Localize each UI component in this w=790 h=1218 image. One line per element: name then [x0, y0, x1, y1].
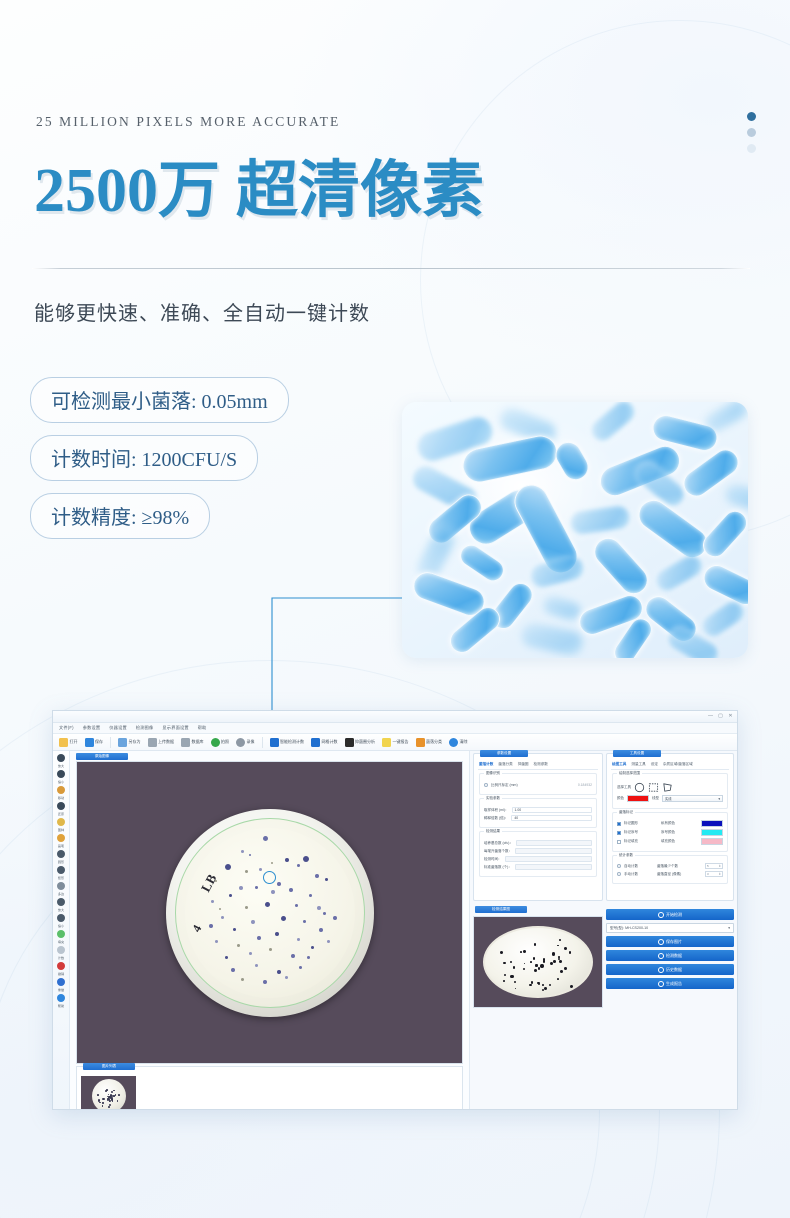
- image-column: 原始图像 LB 4 图片列表: [70, 751, 469, 1110]
- zoom-out-icon: [57, 770, 65, 778]
- params-group-1: 实验参数取样体积 (ml)：1.00稀释倍数 (倍)：40: [479, 798, 597, 828]
- sidebar-tool-label-14: 重做: [58, 987, 64, 992]
- sidebar-tool-2[interactable]: 移动: [53, 786, 69, 800]
- colony-marker: [291, 954, 295, 958]
- sidebar-tool-label-2: 移动: [58, 795, 64, 800]
- colony-marker: [255, 886, 258, 889]
- count-group-legend: 统计参数: [617, 853, 635, 858]
- feature-pill-count-speed: 计数时间: 1200CFU/S: [30, 435, 258, 481]
- grid-icon: [345, 738, 354, 747]
- colony-marker: [303, 920, 307, 924]
- params-group-legend-0: 图像识别: [484, 771, 502, 776]
- colony-marker: [503, 962, 506, 965]
- tools-panel-caption: 工具设置: [613, 750, 661, 757]
- colony-marker: [570, 985, 573, 988]
- colony-marker: [102, 1098, 104, 1100]
- colony-marker: [111, 1091, 113, 1093]
- toolbar-label-0: 打开: [70, 739, 78, 745]
- sidebar-tool-1[interactable]: 缩小: [53, 770, 69, 784]
- colony-marker: [109, 1104, 111, 1106]
- marker-color-label-0: 私有颜色: [661, 821, 698, 826]
- toolbar-label-12: 清除: [460, 739, 468, 745]
- marker-group-legend: 菌落标记: [617, 810, 635, 815]
- sidebar-tool-label-15: 帮助: [58, 1003, 64, 1008]
- action-button-label-3: 历史数据: [666, 967, 682, 973]
- pagination-dot-3[interactable]: [747, 144, 756, 153]
- toolbar-button-0[interactable]: 打开: [57, 737, 80, 748]
- undo-icon: [57, 962, 65, 970]
- colony-marker: [97, 1094, 99, 1096]
- tools-tab-3[interactable]: 杂质区域/菌落区域: [663, 762, 693, 767]
- menu-item-0[interactable]: 文件(F): [59, 725, 74, 731]
- colony-marker: [115, 1094, 117, 1096]
- colony-marker: [225, 864, 231, 870]
- toolbar-button-11[interactable]: 菌落分类: [414, 737, 445, 748]
- marker-label-0: 标记圆形: [624, 821, 658, 826]
- colony-marker: [531, 981, 533, 983]
- colony-marker: [297, 938, 301, 942]
- colony-marker: [229, 894, 233, 898]
- params-panel-caption: 参数设置: [480, 750, 528, 757]
- colony-marker: [538, 967, 541, 970]
- colony-marker: [515, 988, 517, 990]
- brush-icon: [57, 834, 65, 842]
- params-row-2-2: 检测时间：: [484, 856, 592, 862]
- sidebar-tool-9[interactable]: 放大: [53, 898, 69, 912]
- colony-marker: [520, 951, 522, 953]
- colony-marker: [530, 961, 532, 963]
- toolbar-label-7: 智能检测计数: [280, 739, 304, 745]
- params-label-2-1: 每毫升菌落个数：: [484, 849, 512, 854]
- colony-marker: [271, 890, 275, 894]
- menu-item-1[interactable]: 参数设置: [83, 725, 101, 731]
- bacteria-rod: [652, 551, 706, 595]
- polygon-icon: [57, 882, 65, 890]
- params-label-2-0: 培养基总数 (cfu)：: [484, 841, 513, 846]
- toolbar-button-4[interactable]: 数据库: [179, 737, 206, 748]
- pagination-dot-2[interactable]: [747, 128, 756, 137]
- colony-marker: [259, 868, 262, 871]
- toolbar[interactable]: 打开保存另存为上传数据数据库拍照录像智能检测计数网格计数抑菌圈分析一键报告菌落分…: [53, 734, 737, 751]
- marker-checkbox-2[interactable]: [617, 840, 621, 844]
- circle-shape-icon[interactable]: [634, 782, 645, 793]
- colony-marker: [106, 1089, 108, 1091]
- colony-marker: [523, 950, 526, 953]
- sidebar-tool-8[interactable]: 多边: [53, 882, 69, 896]
- colony-marker: [500, 951, 504, 955]
- colony-marker: [233, 928, 237, 932]
- colony-marker: [317, 906, 321, 910]
- upload-icon: [148, 738, 157, 747]
- toolbar-label-2: 另存为: [129, 739, 141, 745]
- colony-marker: [277, 882, 281, 886]
- window-titlebar: — ▢ ✕: [53, 711, 737, 723]
- sidebar-tool-label-6: 圆形: [58, 859, 64, 864]
- image-panel-caption: 原始图像: [76, 753, 128, 760]
- tools-tab-1[interactable]: 测量工具: [631, 762, 645, 767]
- pagination-dot-active[interactable]: [747, 112, 756, 121]
- help-icon: [57, 994, 65, 1002]
- scale-radio[interactable]: [484, 783, 488, 787]
- sidebar-tool-4[interactable]: 菌种: [53, 818, 69, 832]
- sidebar-tool-label-8: 多边: [58, 891, 64, 896]
- action-button-2[interactable]: 检测数据: [606, 950, 734, 961]
- classify-icon: [416, 738, 425, 747]
- params-tabs[interactable]: 菌落计数菌落分类抑菌圈检测参数: [478, 760, 598, 770]
- eyebrow-text: 25 MILLION PIXELS MORE ACCURATE: [36, 114, 340, 130]
- toolbar-button-3[interactable]: 上传数据: [146, 737, 177, 748]
- pick-icon: [57, 818, 65, 826]
- colony-marker: [265, 902, 270, 907]
- tool-sidebar[interactable]: 放大缩小移动还原菌种画笔圆形矩形多边放大缩小填充计数撤销重做帮助: [53, 751, 70, 1110]
- action-button-4[interactable]: 生成报告: [606, 978, 734, 989]
- marker-row-0: 标记圆形私有颜色: [617, 820, 723, 827]
- sidebar-tool-15[interactable]: 帮助: [53, 994, 69, 1008]
- colony-marker: [263, 980, 267, 984]
- tools-tab-2[interactable]: 设定: [651, 762, 658, 767]
- colony-marker: [529, 984, 531, 986]
- bacteria-rod: [540, 592, 584, 623]
- colony-marker: [319, 928, 323, 932]
- software-window: — ▢ ✕ 文件(F)参数设置仪器设置检测图像显示界面设置帮助 打开保存另存为上…: [52, 710, 738, 1110]
- colony-marker: [510, 961, 512, 963]
- params-tab-0[interactable]: 菌落计数: [479, 762, 493, 767]
- colony-marker: [118, 1094, 120, 1096]
- toolbar-label-5: 拍照: [221, 739, 229, 745]
- colony-marker: [549, 984, 551, 986]
- colony-marker: [108, 1098, 110, 1100]
- database-icon: [181, 738, 190, 747]
- maximize-icon[interactable]: ▢: [718, 714, 723, 719]
- colony-marker: [255, 964, 258, 967]
- colony-marker: [503, 980, 505, 982]
- toolbar-button-10[interactable]: 一键报告: [380, 737, 411, 748]
- sidebar-tool-12[interactable]: 计数: [53, 946, 69, 960]
- sidebar-tool-label-1: 缩小: [58, 779, 64, 784]
- menu-item-3[interactable]: 检测图像: [136, 725, 154, 731]
- toolbar-label-4: 数据库: [192, 739, 204, 745]
- marker-checkbox-0[interactable]: [617, 822, 621, 826]
- sidebar-tool-label-0: 放大: [58, 763, 64, 768]
- colony-marker: [102, 1102, 103, 1103]
- colony-marker: [303, 856, 309, 862]
- toolbar-button-2[interactable]: 另存为: [116, 737, 143, 748]
- colony-marker: [535, 964, 537, 966]
- colony-marker: [564, 947, 567, 950]
- magnify-icon: [57, 898, 65, 906]
- count-label-1: 手动计数: [624, 872, 654, 877]
- params-row-2-0: 培养基总数 (cfu)：: [484, 840, 592, 846]
- action-button-0[interactable]: 开始检测: [606, 909, 734, 920]
- colony-marker: [289, 888, 294, 893]
- linestyle-label: 线型: [652, 796, 659, 801]
- marker-group: 菌落标记 标记圆形私有颜色标记序号序号颜色标记填充填充颜色: [612, 812, 728, 852]
- headline-text: 超清像素: [236, 157, 484, 225]
- chart-icon: [658, 953, 664, 959]
- colony-marker: [285, 858, 289, 862]
- colony-marker: [111, 1098, 113, 1100]
- colony-marker: [538, 983, 540, 985]
- colony-marker: [533, 957, 536, 960]
- params-label-1-0: 取样体积 (ml)：: [484, 808, 509, 813]
- bacteria-rod: [698, 506, 748, 562]
- save-as-icon: [118, 738, 127, 747]
- petri-dish: LB 4: [166, 809, 374, 1017]
- count-label-0: 自动计数: [624, 864, 654, 869]
- sidebar-tool-label-3: 还原: [58, 811, 64, 816]
- selected-colony-marker[interactable]: [263, 871, 276, 884]
- spinner-arrows-icon[interactable]: ⇕: [718, 873, 721, 876]
- toolbar-label-10: 一键报告: [393, 739, 409, 745]
- fill-icon: [57, 930, 65, 938]
- toolbar-button-8[interactable]: 网格计数: [309, 737, 340, 748]
- save-icon: [85, 738, 94, 747]
- marker-color-label-2: 填充颜色: [661, 839, 698, 844]
- device-select[interactable]: 型号(型): MH-CS200-10▾: [606, 923, 734, 933]
- toolbar-button-7[interactable]: 智能检测计数: [268, 737, 307, 748]
- count-spin-label-0: 菌落最少个数: [657, 864, 702, 869]
- header-divider: [32, 268, 750, 269]
- colony-marker: [281, 916, 287, 922]
- colony-marker: [510, 975, 513, 978]
- colony-marker: [271, 862, 274, 865]
- count-spinner-0[interactable]: 5⇕: [705, 863, 723, 869]
- camera-icon: [211, 738, 220, 747]
- params-row-2-3: 标准菌落数 (个)：: [484, 864, 592, 870]
- colony-marker: [559, 939, 561, 941]
- action-button-label-1: 保存图片: [666, 939, 682, 945]
- params-label-2-3: 标准菌落数 (个)：: [484, 865, 512, 870]
- pagination-dots[interactable]: [747, 112, 756, 153]
- rect-shape-icon[interactable]: [648, 782, 659, 793]
- colony-marker: [109, 1100, 110, 1101]
- colony-marker: [315, 874, 319, 878]
- result-preview-panel: 检测结果图: [473, 906, 603, 1110]
- colony-marker: [245, 870, 248, 873]
- folder-icon: [59, 738, 68, 747]
- params-tab-3[interactable]: 检测参数: [534, 762, 548, 767]
- close-icon[interactable]: ✕: [728, 714, 733, 719]
- report-icon: [658, 981, 664, 987]
- sidebar-tool-label-13: 撤销: [58, 971, 64, 976]
- result-image[interactable]: [473, 916, 603, 1008]
- grid-count-icon: [311, 738, 320, 747]
- colony-marker: [251, 920, 255, 924]
- colony-marker: [237, 944, 240, 947]
- params-label-2-2: 检测时间：: [484, 857, 502, 862]
- colony-marker: [299, 966, 302, 969]
- bacteria-rod: [722, 480, 748, 513]
- device-select-value: 型号(型): MH-CS200-10: [610, 926, 648, 931]
- zoom-in-icon: [57, 754, 65, 762]
- sidebar-tool-13[interactable]: 撤销: [53, 962, 69, 976]
- colony-marker: [108, 1106, 110, 1108]
- colony-marker: [534, 943, 537, 946]
- action-button-3[interactable]: 历史数据: [606, 964, 734, 975]
- image-canvas[interactable]: LB 4: [76, 761, 463, 1064]
- tools-tabs[interactable]: 绘图工具测量工具设定杂质区域/菌落区域: [611, 760, 729, 770]
- detect-icon: [270, 738, 279, 747]
- params-input-2-2[interactable]: [505, 856, 593, 862]
- params-group-2: 检测结果培养基总数 (cfu)：每毫升菌落个数：检测时间：标准菌落数 (个)：: [479, 831, 597, 877]
- colony-marker: [108, 1094, 109, 1095]
- colony-marker: [241, 850, 245, 854]
- tools-tab-0[interactable]: 绘图工具: [612, 762, 626, 767]
- minimize-icon[interactable]: —: [708, 714, 713, 719]
- colony-marker: [311, 946, 315, 950]
- sidebar-tool-label-12: 计数: [58, 955, 64, 960]
- colony-marker: [221, 916, 224, 919]
- bacteria-rod: [698, 597, 748, 641]
- toolbar-button-6[interactable]: 录像: [234, 737, 257, 748]
- colony-marker: [285, 976, 288, 979]
- marker-checkbox-1[interactable]: [617, 831, 621, 835]
- reset-icon: [57, 802, 65, 810]
- marker-row-2: 标记填充填充颜色: [617, 838, 723, 845]
- spinner-arrows-icon[interactable]: ⇕: [718, 865, 721, 868]
- params-label-0-0: 比例尺标定 (mm): [491, 783, 518, 788]
- bacteria-rod: [699, 561, 748, 610]
- colony-marker: [553, 960, 556, 963]
- colony-marker: [550, 962, 553, 965]
- sidebar-tool-6[interactable]: 圆形: [53, 850, 69, 864]
- history-icon: [658, 967, 664, 973]
- action-button-label-0: 开始检测: [666, 912, 682, 918]
- colony-marker: [102, 1105, 104, 1107]
- params-row-2-1: 每毫升菌落个数：: [484, 848, 592, 854]
- colony-marker: [504, 974, 506, 976]
- sidebar-tool-0[interactable]: 放大: [53, 754, 69, 768]
- sidebar-tool-14[interactable]: 重做: [53, 978, 69, 992]
- colony-marker: [325, 878, 328, 881]
- colony-marker: [225, 956, 228, 959]
- menu-item-2[interactable]: 仪器设置: [109, 725, 127, 731]
- marker-color-swatch-1[interactable]: [701, 829, 723, 836]
- result-panel-caption: 检测结果图: [475, 906, 527, 913]
- colony-marker: [544, 987, 547, 990]
- sidebar-tool-5[interactable]: 画笔: [53, 834, 69, 848]
- feature-pill-list: 可检测最小菌落: 0.05mm 计数时间: 1200CFU/S 计数精度: ≥9…: [30, 377, 289, 551]
- action-button-1[interactable]: 保存图片: [606, 936, 734, 947]
- params-group-legend-1: 实验参数: [484, 796, 502, 801]
- menu-bar[interactable]: 文件(F)参数设置仪器设置检测图像显示界面设置帮助: [53, 723, 737, 734]
- params-input-2-1[interactable]: [515, 848, 592, 854]
- params-tab-1[interactable]: 菌落分类: [498, 762, 512, 767]
- params-input-1-0[interactable]: 1.00: [512, 807, 593, 813]
- toolbar-button-5[interactable]: 拍照: [209, 737, 232, 748]
- toolbar-button-1[interactable]: 保存: [83, 737, 106, 748]
- polygon-shape-icon[interactable]: [662, 782, 673, 793]
- colony-marker: [275, 932, 280, 937]
- menu-item-4[interactable]: 显示界面设置: [162, 725, 188, 731]
- sidebar-tool-7[interactable]: 矩形: [53, 866, 69, 880]
- params-tab-2[interactable]: 抑菌圈: [518, 762, 529, 767]
- marker-color-swatch-2[interactable]: [701, 838, 723, 845]
- colony-marker: [564, 967, 567, 970]
- toolbar-label-11: 菌落分类: [426, 739, 442, 745]
- colony-marker: [559, 960, 562, 963]
- colony-marker: [557, 945, 559, 947]
- count-spinner-1[interactable]: 3⇕: [705, 871, 723, 877]
- colony-marker: [231, 968, 235, 972]
- linestyle-select[interactable]: 实线 ▾: [662, 795, 723, 802]
- colony-marker: [113, 1090, 114, 1091]
- count-spin-label-1: 菌落直径 (像素): [657, 872, 702, 877]
- params-group-0: 图像识别比例尺标定 (mm)0.184932: [479, 773, 597, 795]
- colony-marker: [257, 936, 261, 940]
- params-input-2-3[interactable]: [515, 864, 592, 870]
- menu-item-5[interactable]: 帮助: [198, 725, 207, 731]
- search-icon: [658, 912, 664, 918]
- color-label: 颜色: [617, 796, 624, 801]
- colony-marker: [295, 904, 299, 908]
- draw-color-swatch[interactable]: [627, 795, 649, 802]
- toolbar-label-6: 录像: [247, 739, 255, 745]
- colony-marker: [215, 940, 219, 944]
- colony-marker: [524, 963, 526, 965]
- toolbar-separator: [262, 737, 263, 748]
- report-icon: [382, 738, 391, 747]
- bacteria-rod: [518, 620, 586, 658]
- sidebar-tool-11[interactable]: 填充: [53, 930, 69, 944]
- sidebar-tool-3[interactable]: 还原: [53, 802, 69, 816]
- colony-marker: [239, 886, 244, 891]
- params-input-1-1[interactable]: 40: [511, 815, 592, 821]
- toolbar-button-12[interactable]: 清除: [447, 737, 470, 748]
- right-panel-column: 参数设置 菌落计数菌落分类抑菌圈检测参数 图像识别比例尺标定 (mm)0.184…: [469, 751, 737, 1110]
- colony-marker: [552, 952, 556, 956]
- shape-tool-label: 选择工具: [617, 785, 631, 790]
- colony-marker: [542, 984, 544, 986]
- action-button-column[interactable]: 开始检测型号(型): MH-CS200-10▾保存图片检测数据历史数据生成报告: [606, 906, 734, 1110]
- thumbnail-strip[interactable]: 图片列表: [76, 1066, 463, 1110]
- colony-marker: [241, 978, 245, 982]
- colony-marker: [263, 836, 268, 841]
- colony-marker: [534, 969, 537, 972]
- colony-marker: [513, 966, 515, 968]
- rect-icon: [57, 866, 65, 874]
- marker-label-1: 标记序号: [624, 830, 658, 835]
- count-radio-0[interactable]: [617, 864, 621, 868]
- count-spinner-value-1: 3: [707, 873, 709, 876]
- params-input-2-0[interactable]: [516, 840, 592, 846]
- colony-marker: [514, 981, 516, 983]
- minify-icon: [57, 914, 65, 922]
- colony-marker: [249, 952, 253, 956]
- colony-marker: [99, 1102, 101, 1104]
- params-group-legend-2: 检测结果: [484, 829, 502, 834]
- colony-marker: [219, 908, 222, 911]
- redo-icon: [57, 978, 65, 986]
- colony-marker: [117, 1100, 118, 1101]
- params-label-1-1: 稀释倍数 (倍)：: [484, 816, 508, 821]
- colony-marker: [542, 989, 544, 991]
- sidebar-tool-10[interactable]: 缩小: [53, 914, 69, 928]
- feature-pill-min-colony: 可检测最小菌落: 0.05mm: [30, 377, 289, 423]
- marker-color-swatch-0[interactable]: [701, 820, 723, 827]
- params-input-0-0[interactable]: 0.184932: [521, 782, 592, 788]
- gear-icon: [658, 939, 664, 945]
- colony-marker: [569, 951, 571, 953]
- params-panel: 参数设置 菌落计数菌落分类抑菌圈检测参数 图像识别比例尺标定 (mm)0.184…: [473, 753, 603, 901]
- bacteria-image-card: [402, 402, 748, 658]
- colony-marker: [557, 978, 559, 980]
- toolbar-button-9[interactable]: 抑菌圈分析: [343, 737, 378, 748]
- thumbnail-item[interactable]: [81, 1076, 136, 1110]
- feature-pill-accuracy: 计数精度: ≥98%: [30, 493, 210, 539]
- marker-color-label-1: 序号颜色: [661, 830, 698, 835]
- count-radio-1[interactable]: [617, 872, 621, 876]
